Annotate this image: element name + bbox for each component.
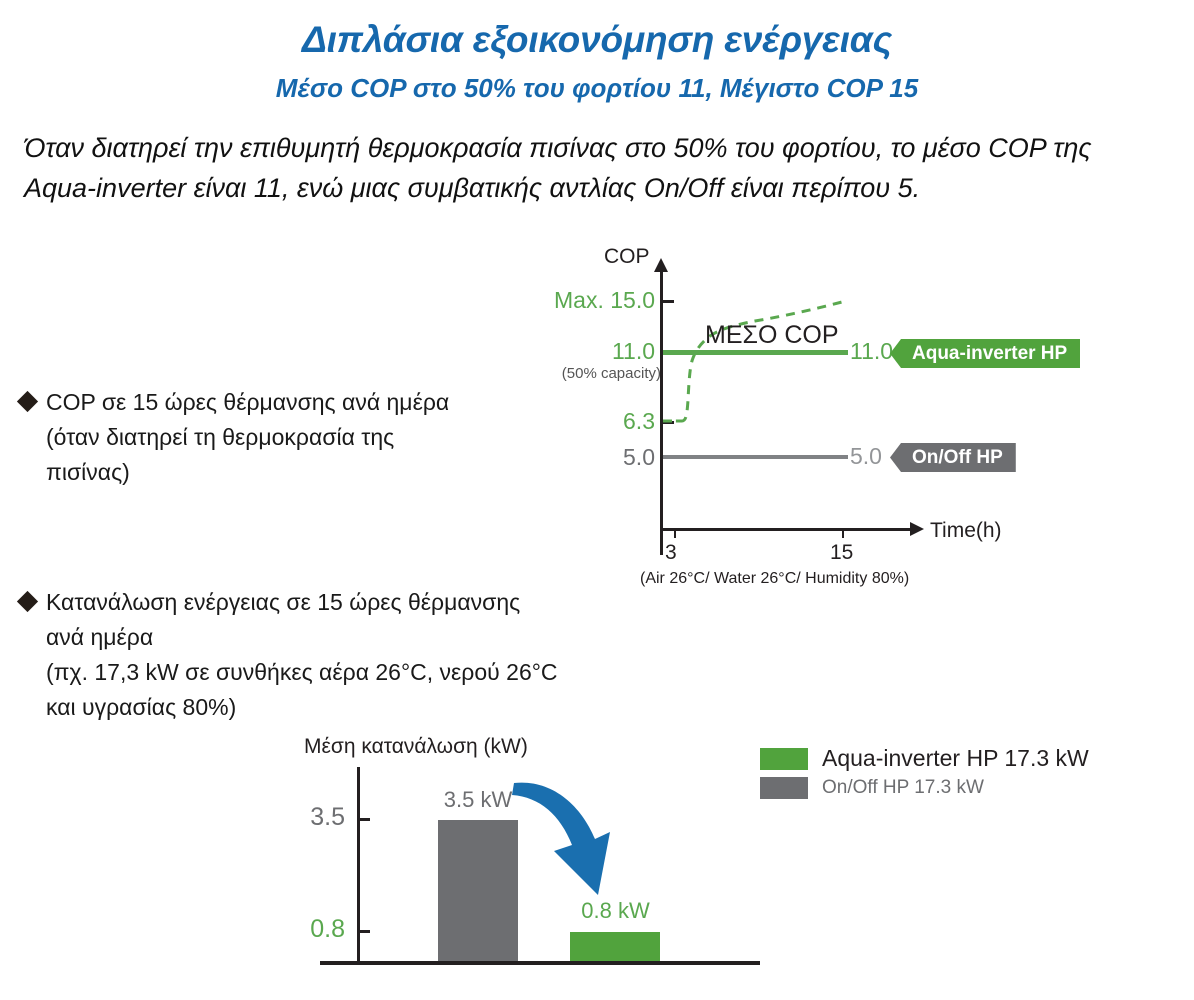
page-title: Διπλάσια εξοικονόμηση ενέργειας [0, 18, 1194, 62]
legend-swatch-gray [760, 777, 808, 799]
bullet-2-line1: Κατανάλωση ενέργειας σε 15 ώρες θέρμανση… [46, 585, 520, 620]
legend-label-onoff: On/Off HP 17.3 kW [822, 777, 984, 799]
bullet-1-line1: COP σε 15 ώρες θέρμανσης ανά ημέρα [46, 385, 449, 420]
cop-average-line-green [663, 350, 848, 355]
bar-aqua-inverter-hp [570, 932, 660, 961]
cop-xtick-label-15: 15 [830, 541, 853, 565]
cop-average-value-green: 11.0 [850, 338, 893, 365]
cop-onoff-value-gray: 5.0 [850, 443, 882, 470]
bar-chart-title: Μέση κατανάλωση (kW) [304, 735, 528, 759]
diamond-bullet-icon [17, 391, 38, 412]
bullet-1-detail: (όταν διατηρεί τη θερμοκρασία της πισίνα… [20, 420, 560, 490]
bar-onoff-hp [438, 820, 518, 961]
legend-label-aqua: Aqua-inverter HP 17.3 kW [822, 745, 1089, 772]
bullet-2-detail: ανά ημέρα (πχ. 17,3 kW σε συνθήκες αέρα … [20, 620, 660, 725]
cop-ytick-label-11: 11.0 [612, 338, 655, 365]
bar-tick-3-5 [360, 818, 370, 821]
bar-ytick-label-3-5: 3.5 [310, 803, 345, 832]
cop-chart-annotation: ΜΕΣΟ COP [705, 321, 839, 350]
cop-ytick-sublabel-capacity: (50% capacity) [562, 365, 661, 382]
bar-chart-y-axis [357, 767, 360, 963]
cop-ytick-label-6-3: 6.3 [623, 408, 655, 435]
badge-onoff-hp[interactable]: On/Off HP [890, 443, 1016, 472]
bar-chart-legend: Aqua-inverter HP 17.3 kW On/Off HP 17.3 … [760, 745, 1089, 804]
bullet-item-cop: COP σε 15 ώρες θέρμανσης ανά ημέρα (όταν… [20, 385, 560, 490]
cop-xtick-label-3: 3 [665, 541, 677, 565]
bar-tick-0-8 [360, 930, 370, 933]
page-subtitle: Μέσο COP στο 50% του φορτίου 11, Μέγιστο… [0, 72, 1194, 104]
cop-ytick-label-max15: Max. 15.0 [554, 287, 655, 314]
legend-item-aqua: Aqua-inverter HP 17.3 kW [760, 745, 1089, 772]
legend-swatch-green [760, 748, 808, 770]
legend-item-onoff: On/Off HP 17.3 kW [760, 777, 1089, 799]
bar-ytick-label-0-8: 0.8 [310, 915, 345, 944]
consumption-bar-chart: Μέση κατανάλωση (kW) 3.5 0.8 3.5 kW 0.8 … [300, 735, 780, 1000]
cop-onoff-line-gray [663, 455, 848, 459]
cop-ytick-label-5: 5.0 [623, 444, 655, 471]
cop-dashed-curve [660, 270, 920, 535]
bar-chart-x-axis [320, 961, 760, 965]
bullet-item-consumption: Κατανάλωση ενέργειας σε 15 ώρες θέρμανση… [20, 585, 660, 725]
bar-value-label-onoff: 3.5 kW [438, 787, 518, 813]
cop-chart-footnote: (Air 26°C/ Water 26°C/ Humidity 80%) [640, 570, 909, 588]
curved-down-arrow-icon [510, 777, 640, 902]
badge-aqua-inverter-hp[interactable]: Aqua-inverter HP [890, 339, 1080, 368]
diamond-bullet-icon [17, 591, 38, 612]
cop-chart-y-axis-label: COP [604, 245, 650, 269]
cop-chart-x-axis-label: Time(h) [930, 519, 1002, 543]
intro-paragraph: Όταν διατηρεί την επιθυμητή θερμοκρασία … [24, 128, 1154, 208]
cop-chart: COP Time(h) Max. 15.0 11.0 (50% capacity… [500, 245, 1140, 595]
